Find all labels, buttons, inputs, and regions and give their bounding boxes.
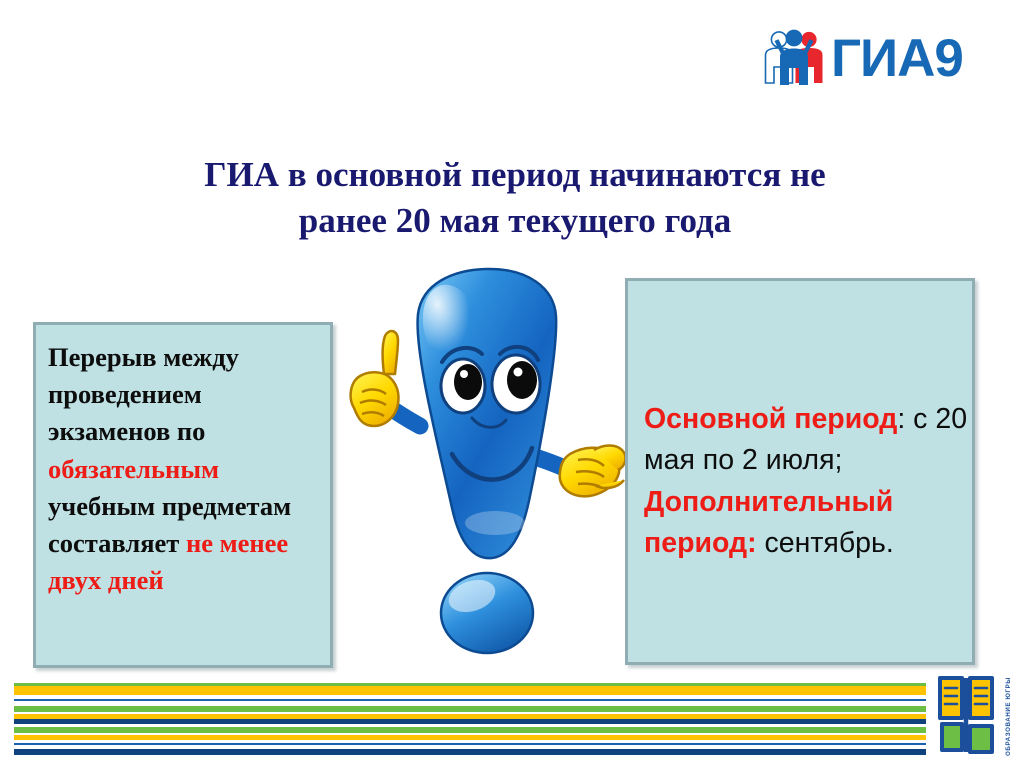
right-panel-text: Основной период: с 20 мая по 2 июля; Доп… [644,399,974,564]
text-segment-3: сентябрь. [757,527,894,559]
right-info-panel: Основной период: с 20 мая по 2 июля; Доп… [625,278,975,665]
left-info-panel: Перерыв между проведением экзаменов по о… [33,322,333,668]
exclamation-mark-character [332,258,632,660]
stripe-16 [14,749,926,755]
gia9-wordmark: ГИА9 [831,32,963,85]
book-and-leaves-icon [936,668,998,756]
right-eye-glint [514,368,523,377]
page-title-line1: ГИА в основной период начинаются не [110,152,920,198]
stripe-1 [14,686,926,695]
left-panel-text: Перерыв между проведением экзаменов по о… [48,339,328,600]
page-title-line2: ранее 20 мая текущего года [110,198,920,244]
page-title: ГИА в основной период начинаются не ране… [110,152,920,244]
text-segment-1: обязательным [48,454,219,484]
text-segment-0: Основной период [644,403,897,435]
obrazovanie-ugry-emblem: ОБРАЗОВАНИЕ ЮГРЫ [936,668,1020,760]
left-eye-glint [460,370,468,378]
decorative-stripes [14,683,926,749]
right-hand-open [560,446,626,497]
left-hand-pointing [351,331,399,426]
gia9-logo: ГИА9 [762,22,977,94]
left-pupil [454,364,482,400]
slide-canvas: ГИА9 ГИА в основной период начинаются не… [0,0,1024,767]
body-lower-highlight [465,511,525,535]
emblem-caption: ОБРАЗОВАНИЕ ЮГРЫ [994,668,1012,756]
right-pupil [507,361,537,399]
gia9-figures-icon [762,27,830,89]
text-segment-0: Перерыв между проведением экзаменов по [48,342,239,446]
